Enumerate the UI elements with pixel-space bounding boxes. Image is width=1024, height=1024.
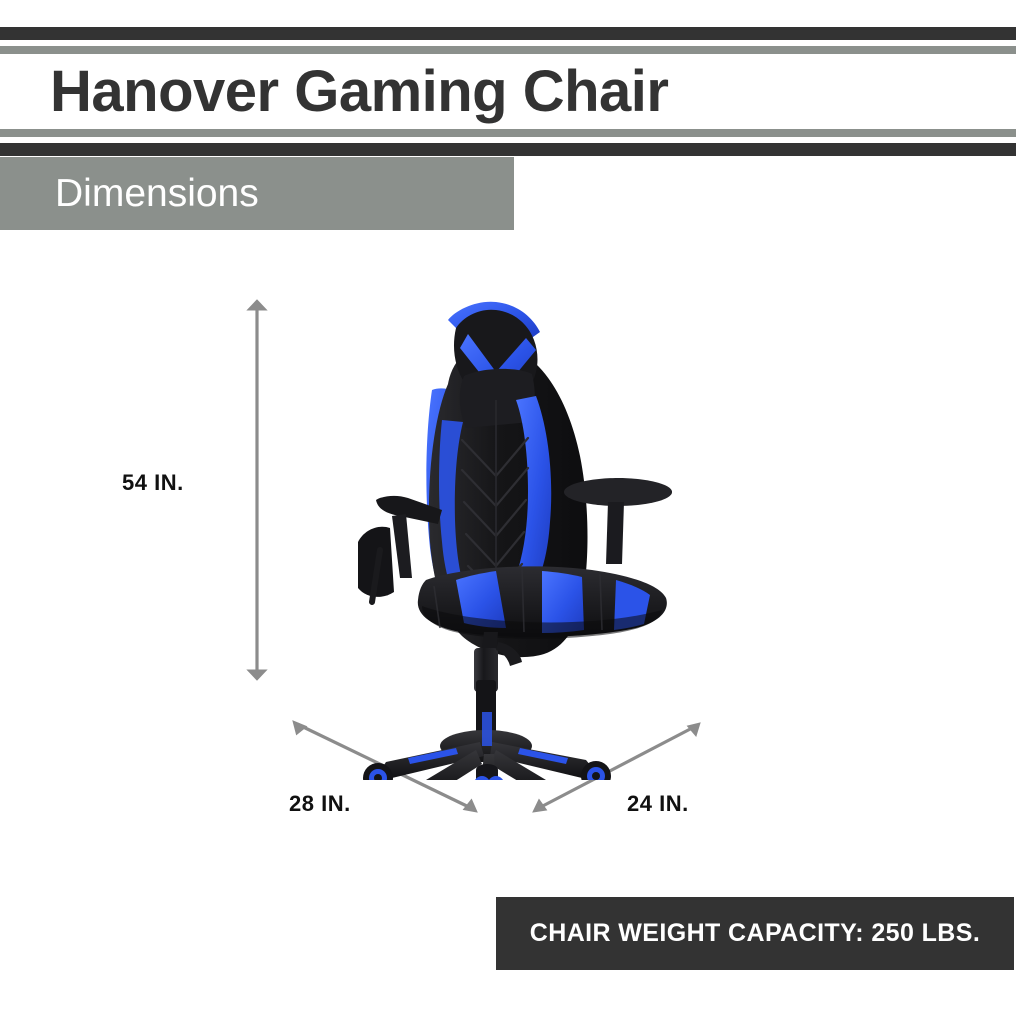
product-image-gaming-chair [330, 280, 710, 780]
page-title: Hanover Gaming Chair [50, 56, 950, 128]
header-rule-gray-top [0, 46, 1016, 54]
dimension-label-depth: 28 IN. [289, 791, 351, 817]
header-rule-gray-bottom [0, 129, 1016, 137]
header-rule-dark-bottom [0, 143, 1016, 156]
weight-capacity-banner: CHAIR WEIGHT CAPACITY: 250 LBS. [496, 897, 1014, 970]
section-banner-dimensions: Dimensions [0, 157, 514, 230]
dimension-label-height: 54 IN. [122, 470, 184, 496]
section-title: Dimensions [55, 157, 259, 230]
weight-capacity-text: CHAIR WEIGHT CAPACITY: 250 LBS. [496, 897, 1014, 970]
product-spec-page: Hanover Gaming Chair Dimensions 54 IN. 2… [0, 0, 1024, 1024]
header-rule-dark-top [0, 27, 1016, 40]
dimension-label-width: 24 IN. [627, 791, 689, 817]
